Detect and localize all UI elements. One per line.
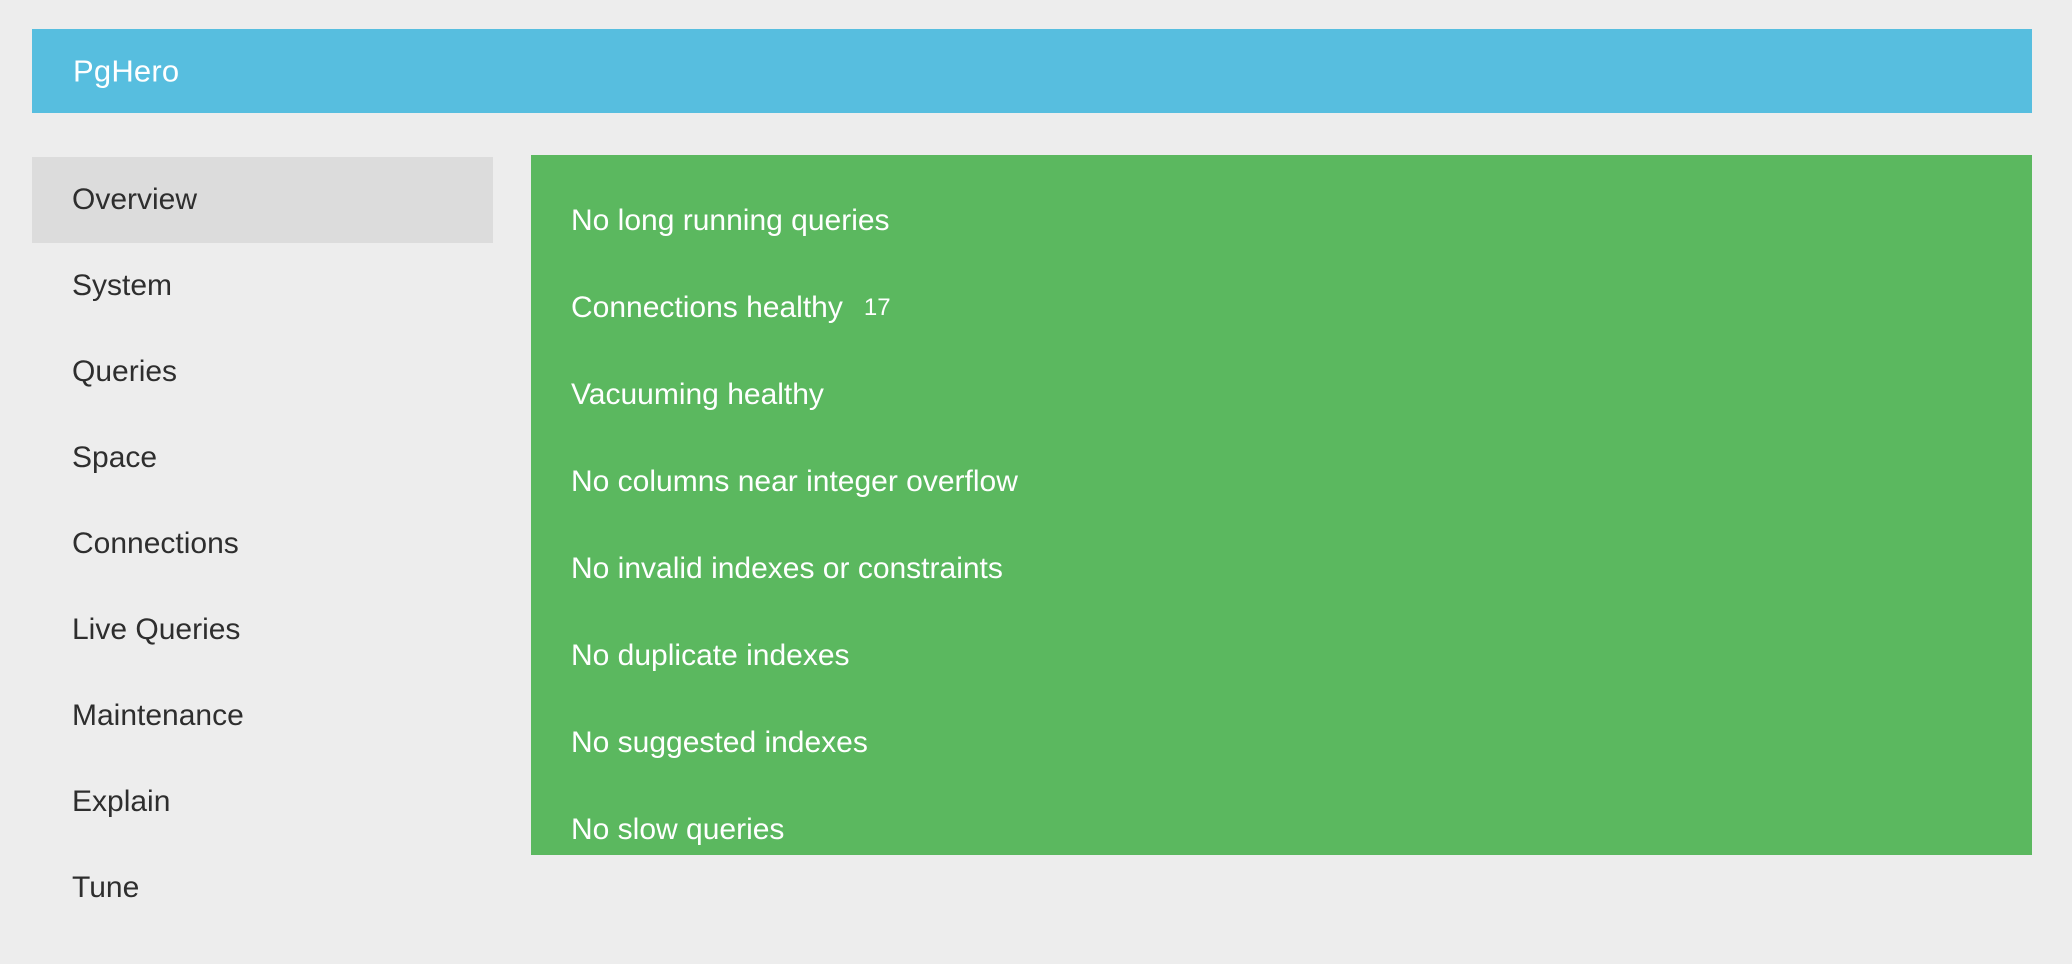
status-row-label: No duplicate indexes (571, 641, 850, 671)
sidebar-item-explain[interactable]: Explain (32, 759, 493, 845)
status-row[interactable]: No invalid indexes or constraints (531, 525, 2032, 612)
sidebar-item-label: Explain (72, 787, 170, 817)
sidebar-item-label: Live Queries (72, 615, 240, 645)
sidebar-item-overview[interactable]: Overview (32, 157, 493, 243)
sidebar-item-label: Tune (72, 873, 139, 903)
sidebar-item-label: Queries (72, 357, 177, 387)
sidebar-item-label: System (72, 271, 172, 301)
status-row-label: No invalid indexes or constraints (571, 554, 1003, 584)
status-row-label: No long running queries (571, 206, 890, 236)
status-row-label: Connections healthy (571, 293, 843, 323)
status-panel: No long running queriesConnections healt… (531, 155, 2032, 855)
status-row[interactable]: Connections healthy17 (531, 264, 2032, 351)
status-row-count: 17 (864, 296, 891, 320)
status-row-label: No slow queries (571, 815, 784, 845)
sidebar-item-system[interactable]: System (32, 243, 493, 329)
sidebar-item-maintenance[interactable]: Maintenance (32, 673, 493, 759)
sidebar-item-live-queries[interactable]: Live Queries (32, 587, 493, 673)
status-row-label: No suggested indexes (571, 728, 868, 758)
status-row[interactable]: No duplicate indexes (531, 612, 2032, 699)
sidebar-item-label: Space (72, 443, 157, 473)
status-row[interactable]: No slow queries (531, 786, 2032, 873)
status-row[interactable]: No long running queries (531, 177, 2032, 264)
status-row[interactable]: No suggested indexes (531, 699, 2032, 786)
sidebar-item-space[interactable]: Space (32, 415, 493, 501)
app-header: PgHero (32, 29, 2032, 113)
sidebar-item-label: Connections (72, 529, 239, 559)
sidebar-nav: OverviewSystemQueriesSpaceConnectionsLiv… (32, 157, 493, 931)
sidebar-item-label: Overview (72, 185, 197, 215)
brand-title[interactable]: PgHero (73, 56, 179, 87)
sidebar-item-connections[interactable]: Connections (32, 501, 493, 587)
status-row[interactable]: Vacuuming healthy (531, 351, 2032, 438)
status-row-label: No columns near integer overflow (571, 467, 1018, 497)
sidebar-item-label: Maintenance (72, 701, 244, 731)
sidebar-item-queries[interactable]: Queries (32, 329, 493, 415)
status-row-label: Vacuuming healthy (571, 380, 824, 410)
sidebar-item-tune[interactable]: Tune (32, 845, 493, 931)
status-row[interactable]: No columns near integer overflow (531, 438, 2032, 525)
